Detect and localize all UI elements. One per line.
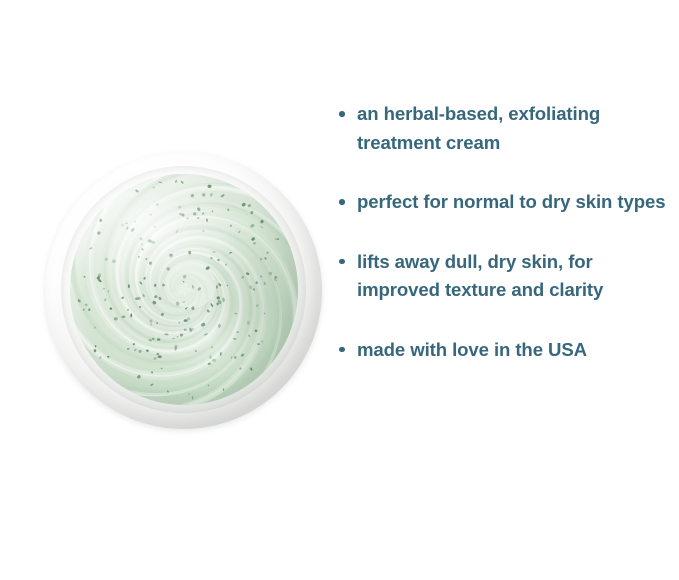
cream-speck — [192, 396, 194, 399]
cream-speck — [210, 303, 213, 308]
cream-speck — [107, 290, 109, 292]
cream-speck — [246, 272, 250, 276]
cream-speck — [89, 247, 93, 250]
cream-speck — [241, 276, 245, 280]
cream-speck — [191, 306, 194, 310]
cream-speck — [100, 219, 102, 222]
cream-speck — [157, 338, 161, 340]
cream-speck — [240, 353, 244, 357]
cream-speck — [127, 309, 129, 311]
cream-speck — [184, 319, 188, 322]
cream-speck — [189, 327, 193, 332]
feature-text: perfect for normal to dry skin types — [357, 188, 668, 217]
cream-speck — [209, 355, 211, 358]
cream-speck — [137, 374, 142, 379]
cream-speck — [152, 300, 157, 305]
cream-speck — [179, 333, 183, 337]
cream-speck — [234, 312, 237, 314]
cream-speck — [212, 210, 214, 212]
cream-speck — [266, 251, 269, 254]
cream-speck — [166, 267, 170, 271]
cream-speck — [95, 345, 97, 347]
cream-speck — [138, 349, 142, 353]
cream-speck — [134, 221, 136, 223]
cream-speck — [107, 356, 109, 358]
cream-speck — [77, 299, 81, 303]
bullet-dot-icon — [339, 199, 345, 205]
cream-speck — [142, 294, 145, 298]
cream-speck — [208, 384, 209, 386]
cream-speck — [138, 256, 140, 258]
cream-speck — [152, 186, 155, 188]
cream-speck — [160, 368, 162, 370]
cream-speck — [218, 283, 222, 287]
cream-speck — [233, 356, 237, 360]
list-item: made with love in the USA — [338, 336, 668, 365]
cream-speck — [247, 204, 251, 208]
cream-speck — [127, 348, 130, 350]
bullet-dot-icon — [339, 347, 345, 353]
cream-speck — [197, 207, 202, 212]
list-item: lifts away dull, dry skin, for improved … — [338, 248, 668, 305]
cream-speck — [248, 285, 253, 290]
cream-speck — [104, 298, 107, 302]
feature-text: made with love in the USA — [357, 336, 668, 365]
cream-speck — [149, 339, 152, 342]
cream-speck — [94, 326, 96, 329]
cream-speck — [255, 304, 259, 308]
bullet-dot-icon — [339, 259, 345, 265]
cream-speck — [192, 212, 196, 216]
cream-speck — [152, 337, 155, 340]
cream-speck — [155, 203, 159, 207]
cream-speck — [257, 343, 260, 345]
cream-speck — [177, 205, 182, 210]
cream-speck — [185, 307, 188, 310]
cream-speck — [216, 285, 218, 289]
cream-speck — [218, 324, 221, 328]
cream-speck — [202, 229, 205, 232]
cream-speck — [174, 344, 178, 349]
cream-speck — [182, 301, 185, 303]
cream-speck — [211, 346, 214, 349]
cream-speck — [253, 242, 257, 245]
cream-speck — [197, 287, 202, 291]
cream-speck — [197, 216, 200, 219]
cream-speck — [206, 218, 208, 222]
cream-speck — [241, 202, 246, 207]
cream-speck — [248, 334, 251, 337]
cream-speck — [141, 243, 143, 245]
cream-speck — [160, 312, 164, 316]
cream-speck — [176, 336, 178, 338]
cream-speck — [175, 229, 179, 234]
cream-speck — [121, 223, 125, 227]
cream-speck — [139, 281, 142, 285]
feature-text: lifts away dull, dry skin, for improved … — [357, 248, 668, 305]
cream-speck — [255, 281, 257, 284]
cream-speck — [156, 352, 159, 355]
cream-speck — [85, 303, 88, 306]
cream-speck — [158, 355, 162, 358]
cream-speck — [150, 383, 154, 386]
cream-speck — [102, 288, 105, 290]
cream-speck — [206, 309, 210, 313]
cream-speck — [229, 252, 232, 254]
cream-speck — [149, 319, 153, 323]
cream-speck — [260, 225, 264, 228]
cream-speck — [88, 308, 91, 311]
cream-speck — [212, 251, 216, 253]
cream-speck — [204, 333, 208, 336]
cream-speck — [150, 214, 152, 216]
cream-speck — [260, 275, 263, 278]
cream-speck — [114, 317, 119, 321]
cream-speck — [128, 284, 130, 288]
cream-speck — [223, 388, 225, 390]
cream-speck — [217, 258, 220, 261]
cream-speck — [141, 248, 144, 251]
cream-speck — [158, 296, 162, 300]
cream-speck — [162, 283, 166, 287]
cream-speck — [202, 212, 205, 215]
feature-bullet-list: an herbal-based, exfoliating treatment c… — [338, 100, 668, 364]
cream-speck — [156, 322, 158, 324]
cream-speck — [175, 301, 180, 306]
cream-speck — [254, 329, 258, 332]
cream-speck — [178, 322, 180, 324]
cream-speck — [125, 222, 128, 224]
cream-speck — [188, 393, 189, 396]
cream-speck — [183, 328, 187, 331]
cream-exfoliating-specks — [70, 174, 298, 405]
cream-speck — [104, 257, 108, 261]
cream-speck — [93, 349, 96, 353]
cream-speck — [195, 350, 197, 353]
cream-speck — [222, 297, 225, 302]
cream-speck — [216, 296, 220, 300]
cream-speck — [207, 362, 211, 365]
cream-speck — [263, 312, 265, 314]
cream-speck — [154, 284, 156, 287]
cream-speck — [112, 259, 116, 263]
cream-speck — [130, 227, 135, 232]
product-jar-image — [45, 152, 322, 429]
cream-speck — [233, 338, 237, 341]
cream-speck — [274, 279, 278, 282]
cream-speck — [210, 193, 213, 197]
cream-speck — [145, 257, 148, 260]
cream-speck — [99, 356, 102, 360]
cream-speck — [227, 208, 230, 211]
cream-speck — [259, 257, 262, 260]
list-item: perfect for normal to dry skin types — [338, 188, 668, 217]
cream-speck — [268, 271, 273, 276]
cream-speck — [239, 367, 242, 370]
cream-speck — [188, 251, 191, 255]
cream-speck — [247, 321, 250, 325]
cream-speck — [110, 307, 113, 309]
cream-speck — [190, 193, 195, 198]
product-feature-image: an herbal-based, exfoliating treatment c… — [0, 0, 679, 580]
cream-speck — [151, 371, 154, 374]
cream-speck — [154, 295, 158, 299]
cream-speck — [229, 224, 232, 227]
cream-speck — [132, 343, 135, 346]
cream-speck — [205, 266, 210, 271]
cream-speck — [150, 323, 153, 326]
cream-speck — [226, 285, 228, 287]
bullet-dot-icon — [339, 111, 345, 117]
cream-speck — [252, 288, 255, 292]
cream-speck — [231, 356, 233, 358]
cream-speck — [202, 193, 206, 197]
cream-speck — [182, 281, 184, 283]
cream-speck — [175, 180, 178, 184]
cream-speck — [130, 313, 132, 317]
feature-text: an herbal-based, exfoliating treatment c… — [357, 100, 668, 157]
cream-speck — [200, 322, 205, 327]
cream-speck — [146, 349, 149, 352]
cream-speck — [153, 356, 157, 360]
cream-speck — [261, 340, 264, 342]
cream-speck — [250, 224, 255, 229]
cream-speck — [207, 185, 211, 188]
cream-speck — [158, 181, 162, 183]
cream-speck — [212, 359, 216, 362]
cream-speck — [182, 274, 187, 279]
list-item: an herbal-based, exfoliating treatment c… — [338, 100, 668, 157]
cream-speck — [236, 331, 239, 333]
cream-speck — [167, 390, 170, 393]
cream-speck — [181, 180, 184, 184]
cream-speck — [97, 231, 100, 235]
cream-speck — [83, 308, 85, 311]
cream-speck — [250, 211, 254, 215]
cream-speck — [274, 275, 278, 279]
cream-speck — [260, 219, 265, 224]
cream-speck — [126, 226, 129, 230]
cream-speck — [238, 230, 241, 234]
cream-speck — [220, 194, 225, 198]
cream-speck — [83, 276, 86, 278]
cream-speck — [121, 296, 124, 299]
cream-speck — [210, 257, 213, 259]
cream-speck — [220, 352, 222, 356]
cream-speck — [149, 261, 152, 264]
cream-speck — [164, 333, 168, 335]
cream-speck — [250, 367, 253, 371]
cream-speck — [264, 257, 267, 260]
cream-speck — [251, 237, 256, 242]
cream-speck — [139, 306, 142, 308]
cream-speck — [135, 189, 139, 193]
cream-speck — [186, 217, 189, 219]
cream-speck — [192, 285, 194, 289]
cream-speck — [264, 282, 266, 285]
cream-speck — [225, 263, 228, 266]
cream-speck — [143, 277, 146, 280]
cream-speck — [172, 337, 176, 339]
cream-surface — [70, 174, 298, 405]
cream-speck — [153, 225, 157, 229]
cream-speck — [139, 237, 143, 241]
cream-speck — [133, 348, 136, 351]
cream-speck — [121, 315, 125, 318]
